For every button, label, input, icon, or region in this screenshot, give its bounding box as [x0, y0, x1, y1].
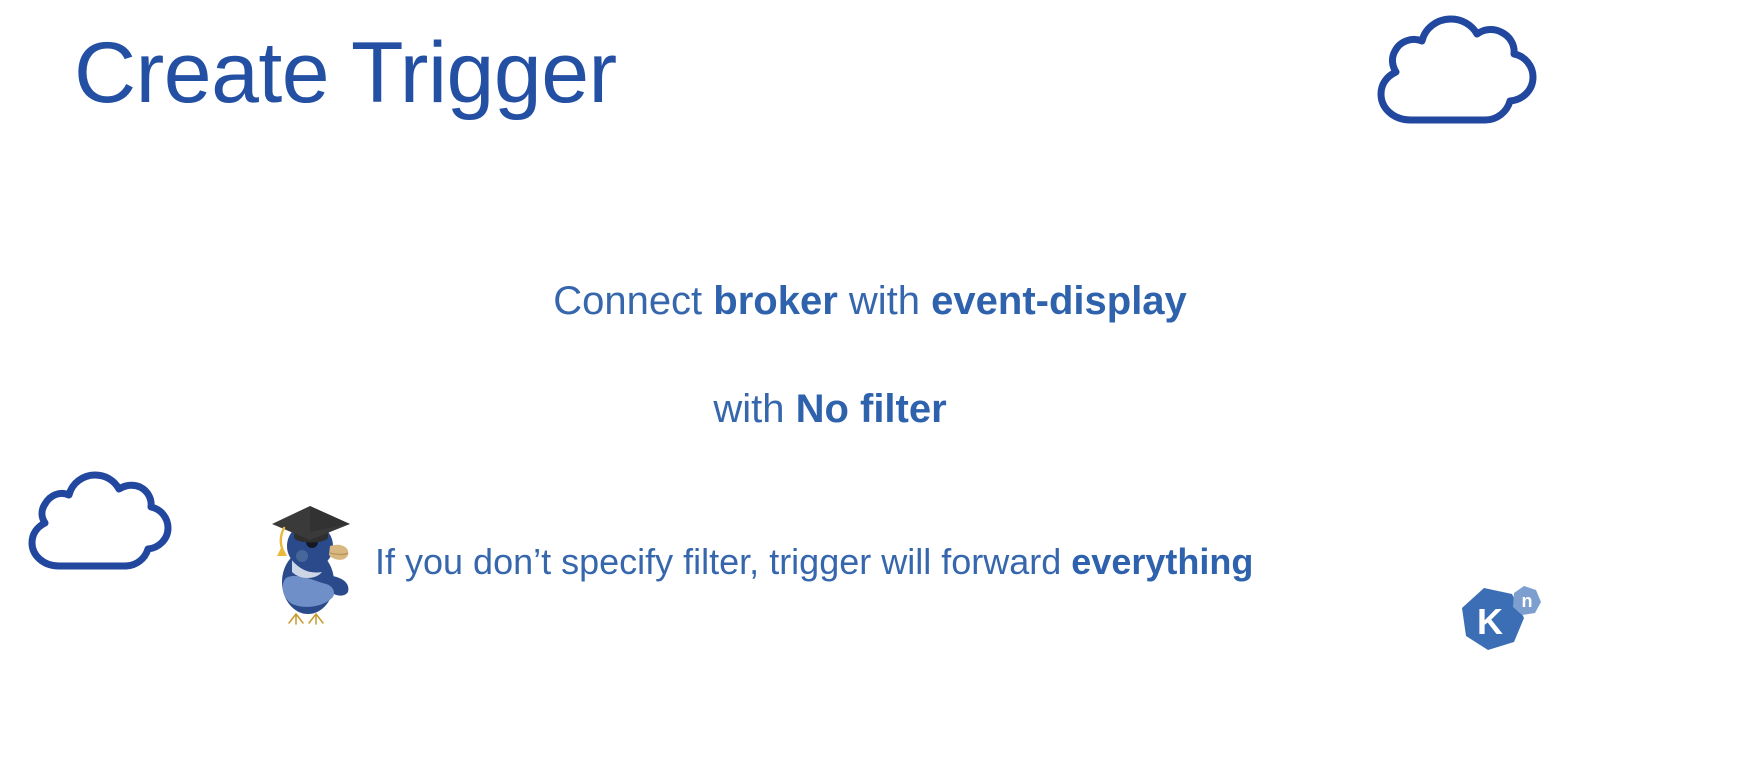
- cloud-icon: [18, 466, 178, 572]
- filter-statement: with No filter: [0, 386, 1750, 432]
- knative-logo-n-letter: n: [1522, 591, 1533, 611]
- no-filter-emphasis: No filter: [796, 387, 947, 431]
- tip-statement: If you don’t specify filter, trigger wil…: [375, 541, 1253, 582]
- connect-middle: with: [838, 279, 931, 323]
- tip-prefix: If you don’t specify filter, trigger wil…: [375, 541, 1071, 582]
- page-title: Create Trigger: [74, 30, 617, 116]
- knative-logo-k-letter: K: [1477, 601, 1503, 642]
- connect-prefix: Connect: [553, 279, 713, 323]
- connect-statement: Connect broker with event-display: [0, 278, 1750, 324]
- everything-emphasis: everything: [1071, 541, 1253, 582]
- graduate-bird-icon: [266, 498, 352, 626]
- filter-prefix: with: [713, 387, 795, 431]
- event-display-emphasis: event-display: [931, 279, 1187, 323]
- cloud-icon: [1365, 8, 1543, 126]
- broker-emphasis: broker: [713, 279, 838, 323]
- knative-logo: K n: [1448, 580, 1544, 666]
